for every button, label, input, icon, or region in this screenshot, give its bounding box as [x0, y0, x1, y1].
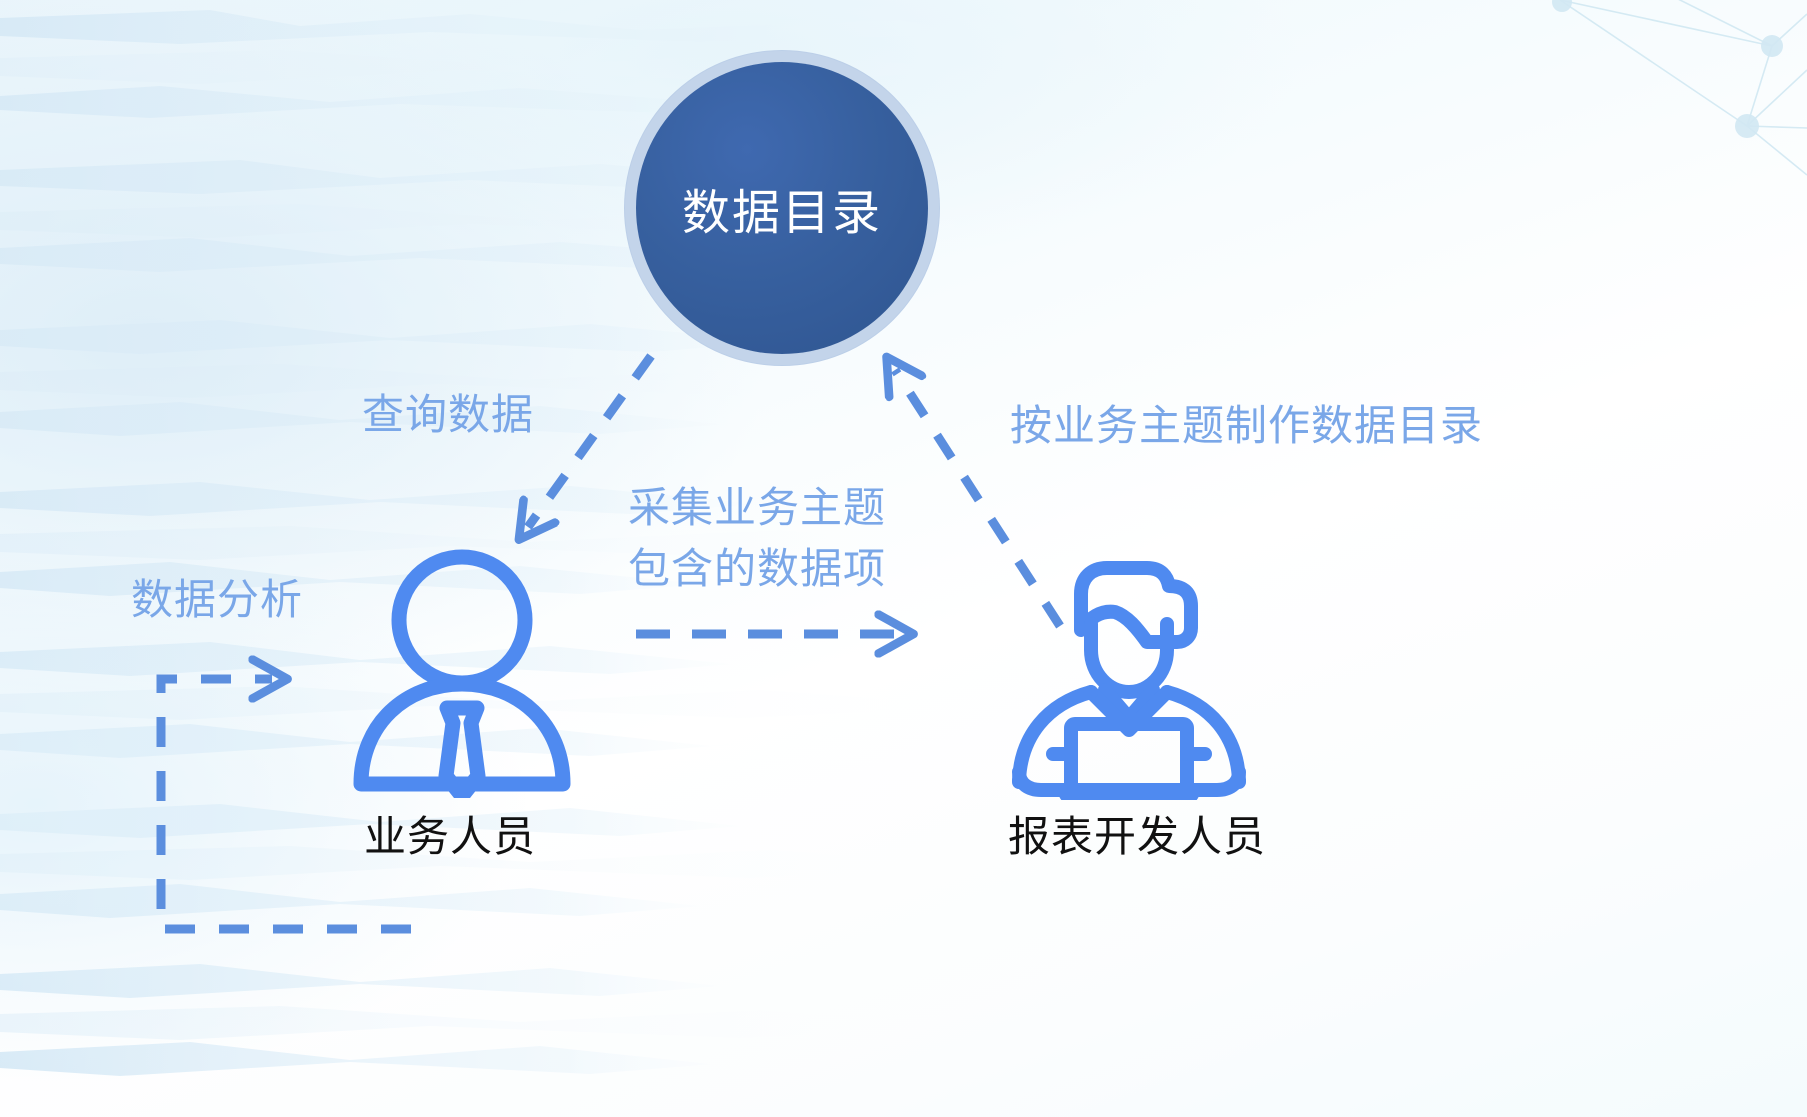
edge-label-collect-items-line2: 包含的数据项: [628, 539, 886, 600]
network-lines: [1560, 0, 1807, 175]
central-node-data-catalog[interactable]: 数据目录: [636, 62, 928, 354]
edge-label-query-data: 查询数据: [362, 385, 534, 446]
edge-label-collect-items: 采集业务主题 包含的数据项: [628, 478, 886, 600]
network-nodes: [1552, 0, 1783, 138]
person-head: [399, 557, 525, 683]
developer-face: [1091, 624, 1167, 692]
actor-label-report-developer: 报表开发人员: [1008, 803, 1266, 864]
report-developer-icon[interactable]: [995, 532, 1263, 800]
report-developer-glyph: [995, 532, 1263, 800]
actor-label-business-person: 业务人员: [364, 803, 536, 864]
laptop-base: [1065, 790, 1193, 800]
business-person-glyph: [338, 548, 586, 798]
central-node-label: 数据目录: [682, 173, 882, 243]
edge-label-data-analysis: 数据分析: [131, 570, 303, 631]
developer-right-shoulder: [1167, 692, 1239, 782]
edge-label-collect-items-line1: 采集业务主题: [628, 478, 886, 539]
person-body: [361, 684, 563, 784]
business-person-icon[interactable]: [338, 548, 586, 798]
edge-label-make-catalog: 按业务主题制作数据目录: [1010, 396, 1483, 457]
diagram-canvas: 数据目录 查询数据 按业务主题制作数据目录 采集业务主题 包含的数据项 数据分析…: [0, 0, 1807, 1117]
developer-left-shoulder: [1019, 692, 1091, 782]
